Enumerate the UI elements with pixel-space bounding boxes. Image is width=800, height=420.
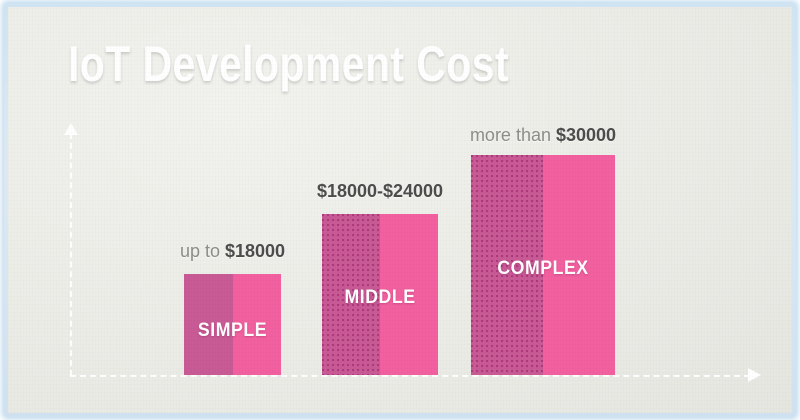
- bar-simple[interactable]: SIMPLE: [184, 274, 281, 375]
- bar-complex[interactable]: COMPLEX: [471, 155, 615, 375]
- x-axis: [70, 375, 750, 377]
- bar-simple-light-half: [233, 274, 282, 375]
- value-label-amount-middle: $18000-$24000: [317, 181, 443, 201]
- value-label-prefix-complex: more than: [470, 125, 556, 145]
- chart-canvas: IoT Development Cost up to $18000 SIMPLE…: [8, 7, 792, 413]
- page-title: IoT Development Cost: [68, 39, 509, 89]
- value-label-prefix-simple: up to: [180, 241, 225, 261]
- chart-screenshot: IoT Development Cost up to $18000 SIMPLE…: [0, 0, 800, 420]
- bar-group-simple: up to $18000 SIMPLE: [176, 133, 289, 375]
- bar-middle-light-half: [380, 214, 438, 375]
- y-axis: [70, 133, 72, 376]
- value-label-middle: $18000-$24000: [298, 181, 462, 202]
- bar-simple-dark-half: [184, 274, 233, 375]
- bar-complex-light-half: [543, 155, 615, 375]
- bar-complex-dark-half: [471, 155, 543, 375]
- value-label-amount-complex: $30000: [556, 125, 616, 145]
- y-axis-arrow-icon: [64, 123, 78, 135]
- bar-group-middle: $18000-$24000 MIDDLE: [314, 133, 446, 375]
- bar-middle[interactable]: MIDDLE: [322, 214, 438, 375]
- value-label-amount-simple: $18000: [225, 241, 285, 261]
- bar-group-complex: more than $30000 COMPLEX: [463, 133, 623, 375]
- x-axis-arrow-icon: [748, 368, 761, 382]
- value-label-simple: up to $18000: [158, 241, 307, 262]
- bar-middle-dark-half: [322, 214, 380, 375]
- value-label-complex: more than $30000: [459, 125, 627, 146]
